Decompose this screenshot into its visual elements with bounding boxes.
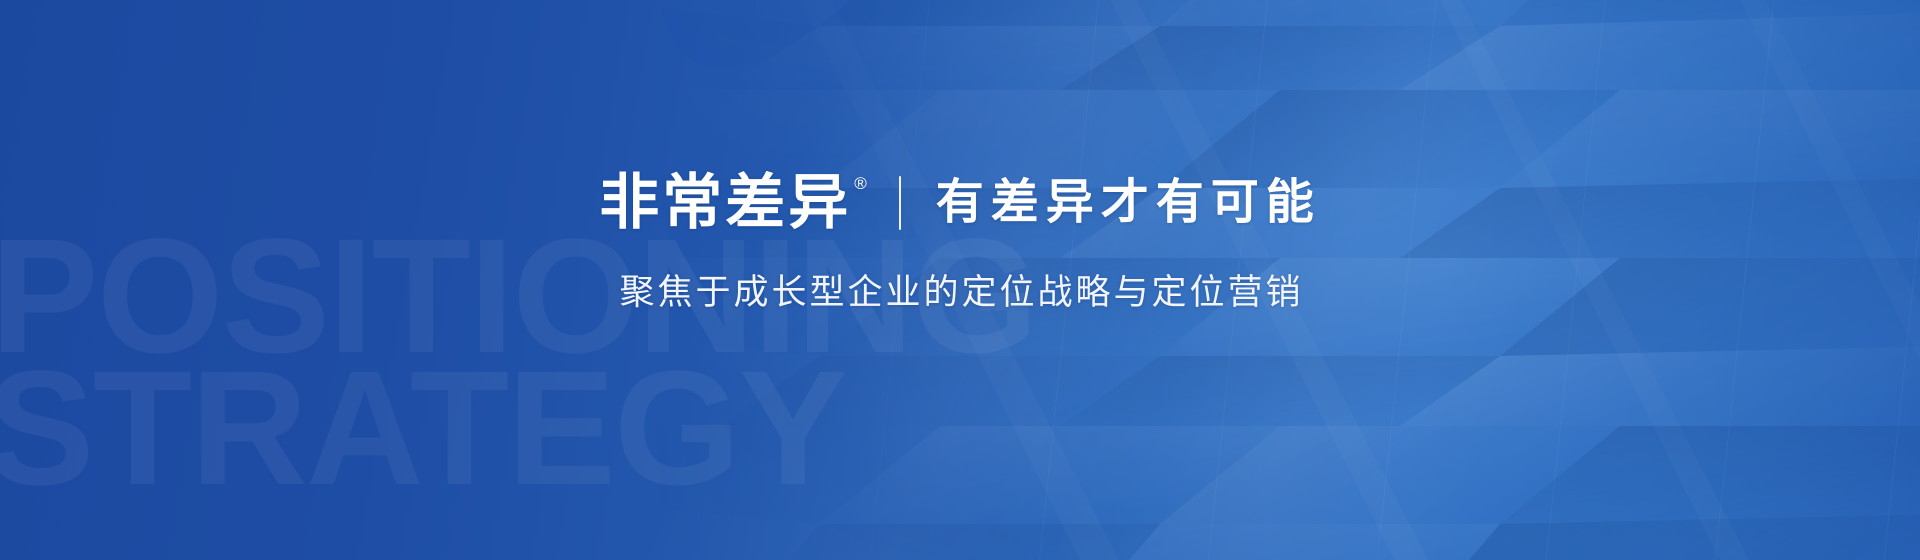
brand-logo: 非常差异 ® xyxy=(599,173,867,233)
hero-banner: POSITIONING STRATEGY 非常差异 ® 有差异才有可能 聚焦于成… xyxy=(0,0,1920,560)
hero-content: 非常差异 ® 有差异才有可能 聚焦于成长型企业的定位战略与定位营销 xyxy=(0,160,1920,314)
registered-trademark-icon: ® xyxy=(854,175,867,192)
brand-subtitle: 聚焦于成长型企业的定位战略与定位营销 xyxy=(616,272,1303,314)
vertical-divider xyxy=(899,176,901,230)
brand-slogan: 有差异才有可能 xyxy=(929,179,1321,227)
logo-row: 非常差异 ® 有差异才有可能 xyxy=(599,160,1321,246)
brand-name: 非常差异 xyxy=(599,173,851,233)
